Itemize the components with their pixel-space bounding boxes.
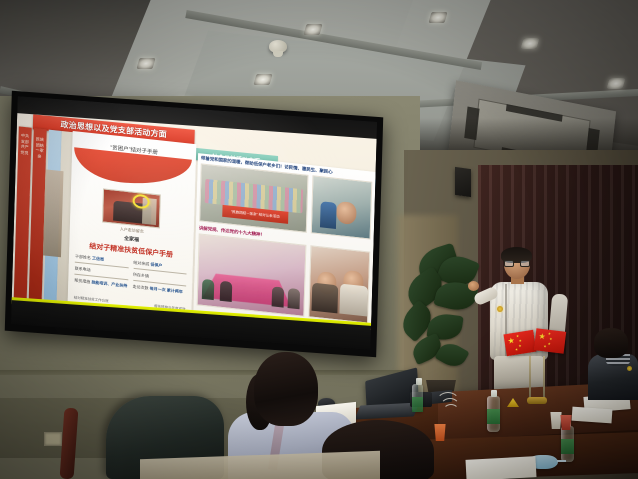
vertical-banner-text: 中共支部共产党员 [20, 133, 30, 156]
audience-hair [594, 328, 628, 358]
photo-banner-text: “民族团结一家亲” 结对认亲活动 [231, 209, 280, 219]
vertical-banner-text: 民族团结一家亲 [35, 136, 45, 159]
collage-photo-group: “民族团结一家亲” 结对认亲活动 [199, 163, 308, 232]
recessed-spotlight-icon [428, 12, 447, 23]
card-form-grid: 干部姓名 工信局 结对亲戚 低保户 联系电话 [74, 254, 187, 296]
photo-person [339, 284, 368, 317]
slide-vertical-banners: 中共支部共产党员 民族团结一家亲 [12, 126, 73, 309]
conference-room-photo: 政治思想以及党支部活动方面 社会公益活动方面 科研方面 荣誉和奖学金 中共支部共… [0, 0, 638, 479]
photo-person [272, 286, 285, 307]
eyeglasses-icon [504, 260, 530, 267]
photo-person [220, 281, 233, 302]
presentation-slide: 政治思想以及党支部活动方面 社会公益活动方面 科研方面 荣誉和奖学金 中共支部共… [12, 113, 377, 330]
recessed-spotlight-icon [520, 38, 539, 49]
flag-large-star-icon: ★ [538, 333, 546, 342]
flag-stand-base [527, 397, 547, 404]
flag-small-star-icon: ★ [518, 345, 522, 349]
projection-screen[interactable]: 政治思想以及党支部活动方面 社会公益活动方面 科研方面 荣誉和奖学金 中共支部共… [5, 91, 383, 358]
presenter-left-hand [468, 281, 479, 291]
photo-person [311, 283, 338, 314]
lapel-pin [627, 366, 632, 371]
photo-person [202, 279, 215, 300]
audience-woman-right [586, 328, 638, 420]
form-field-label: 干部姓名 [75, 254, 91, 261]
flag-small-star-icon: ★ [547, 343, 551, 347]
wall-speaker [455, 167, 471, 197]
recessed-spotlight-icon [253, 74, 272, 85]
screen-surface: 政治思想以及党支部活动方面 社会公益活动方面 科研方面 荣誉和奖学金 中共支部共… [11, 96, 377, 350]
bottle-label [487, 409, 500, 424]
chinese-national-flag: ★ ★ ★ ★ ★ ★ ★ ★ ★ ★ [505, 330, 571, 400]
form-field-value: 工信局 [92, 255, 104, 261]
party-emblem-badge [497, 306, 503, 312]
flag-pole [529, 356, 531, 400]
flag-small-star-icon: ★ [515, 348, 519, 352]
collage-photo-family [308, 245, 370, 323]
photo-person [320, 201, 337, 229]
form-field-label: 结对亲戚 [133, 260, 149, 267]
form-field-value: 技能培训、产业扶持 [91, 279, 127, 288]
photo-person [288, 288, 301, 309]
collage-photo-visit [311, 175, 373, 239]
flag-pole [543, 356, 545, 400]
form-field-label: 走访次数 [133, 284, 149, 291]
form-field-label: 帮扶措施 [74, 278, 90, 285]
flag-large-star-icon: ★ [507, 337, 515, 346]
water-bottle[interactable] [487, 396, 500, 432]
recessed-spotlight-icon [606, 78, 625, 89]
cable-bundle [443, 404, 459, 418]
water-bottle[interactable] [412, 384, 423, 412]
recessed-spotlight-icon [303, 24, 322, 35]
water-bottle[interactable] [561, 426, 574, 462]
form-field-value: 低保户 [150, 262, 162, 268]
slide-handbook-card: “贫困户”结对子手册 入户走访留念 全家福 结对子精准扶贫低保户手册 干部姓名 … [68, 131, 197, 319]
collage-photo-meeting [197, 233, 307, 316]
bottle-label [561, 439, 574, 454]
card-photo [102, 188, 161, 228]
wall-power-outlet[interactable] [44, 432, 62, 446]
bottle-label [412, 397, 423, 412]
printed-document[interactable] [465, 456, 536, 479]
form-field-value: 每月一次 累计两年 [150, 286, 183, 295]
form-field-label: 所在乡镇 [133, 272, 149, 279]
flag-cloth: ★ ★ ★ ★ ★ [534, 328, 566, 353]
banner-photo [43, 169, 64, 257]
flag-cloth: ★ ★ ★ ★ ★ [503, 330, 536, 356]
slide-photo-collage: 带着党和国家的温暖，帮助低保户老乡们！访民情、惠民生、聚民心 “民族团结一家亲”… [193, 153, 375, 330]
smoke-detector-icon [269, 40, 287, 53]
photo-face [336, 201, 357, 225]
form-field-label: 联系电话 [75, 266, 91, 273]
audience-hair [254, 352, 318, 426]
flag-small-star-icon: ★ [543, 345, 547, 349]
recessed-spotlight-icon [136, 58, 155, 69]
